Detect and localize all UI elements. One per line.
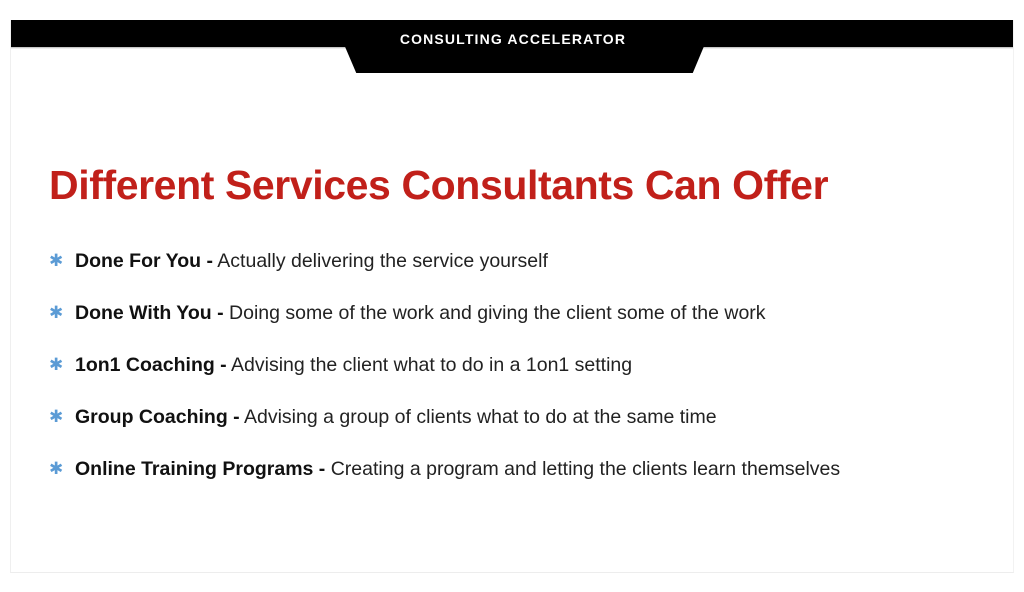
page-title: Different Services Consultants Can Offer [49, 162, 828, 209]
list-item-term: 1on1 Coaching - [75, 354, 227, 376]
brand-title: CONSULTING ACCELERATOR [311, 31, 715, 47]
list-item-text: Done For You - Actually delivering the s… [75, 248, 989, 274]
asterisk-bullet-icon: ✱ [49, 300, 75, 326]
asterisk-bullet-icon: ✱ [49, 352, 75, 378]
list-item: ✱ 1on1 Coaching - Advising the client wh… [49, 352, 989, 404]
list-item-description: Actually delivering the service yourself [217, 250, 548, 272]
list-item: ✱ Online Training Programs - Creating a … [49, 456, 989, 508]
list-item-term: Done For You - [75, 250, 213, 272]
services-bullet-list: ✱ Done For You - Actually delivering the… [49, 248, 989, 508]
list-item: ✱ Done With You - Doing some of the work… [49, 300, 989, 352]
list-item-description: Advising the client what to do in a 1on1… [231, 354, 632, 376]
list-item-term: Online Training Programs - [75, 458, 325, 480]
asterisk-bullet-icon: ✱ [49, 456, 75, 482]
slide-header-banner: CONSULTING ACCELERATOR [11, 20, 1014, 74]
header-bar-shadow [11, 47, 1014, 49]
list-item-description: Advising a group of clients what to do a… [244, 406, 717, 428]
header-bar [11, 20, 1014, 47]
list-item-term: Done With You - [75, 302, 224, 324]
asterisk-bullet-icon: ✱ [49, 404, 75, 430]
list-item-description: Doing some of the work and giving the cl… [229, 302, 766, 324]
list-item-text: Group Coaching - Advising a group of cli… [75, 404, 989, 430]
list-item-description: Creating a program and letting the clien… [331, 458, 840, 480]
header-tab-shape [311, 20, 715, 73]
list-item-text: Online Training Programs - Creating a pr… [75, 456, 989, 482]
header-tab-shadow [311, 20, 715, 76]
list-item: ✱ Group Coaching - Advising a group of c… [49, 404, 989, 456]
slide-viewport: CONSULTING ACCELERATOR Different Service… [0, 0, 1024, 592]
list-item-text: Done With You - Doing some of the work a… [75, 300, 989, 326]
presentation-slide: CONSULTING ACCELERATOR Different Service… [10, 20, 1014, 573]
list-item-term: Group Coaching - [75, 406, 240, 428]
asterisk-bullet-icon: ✱ [49, 248, 75, 274]
list-item: ✱ Done For You - Actually delivering the… [49, 248, 989, 300]
list-item-text: 1on1 Coaching - Advising the client what… [75, 352, 989, 378]
